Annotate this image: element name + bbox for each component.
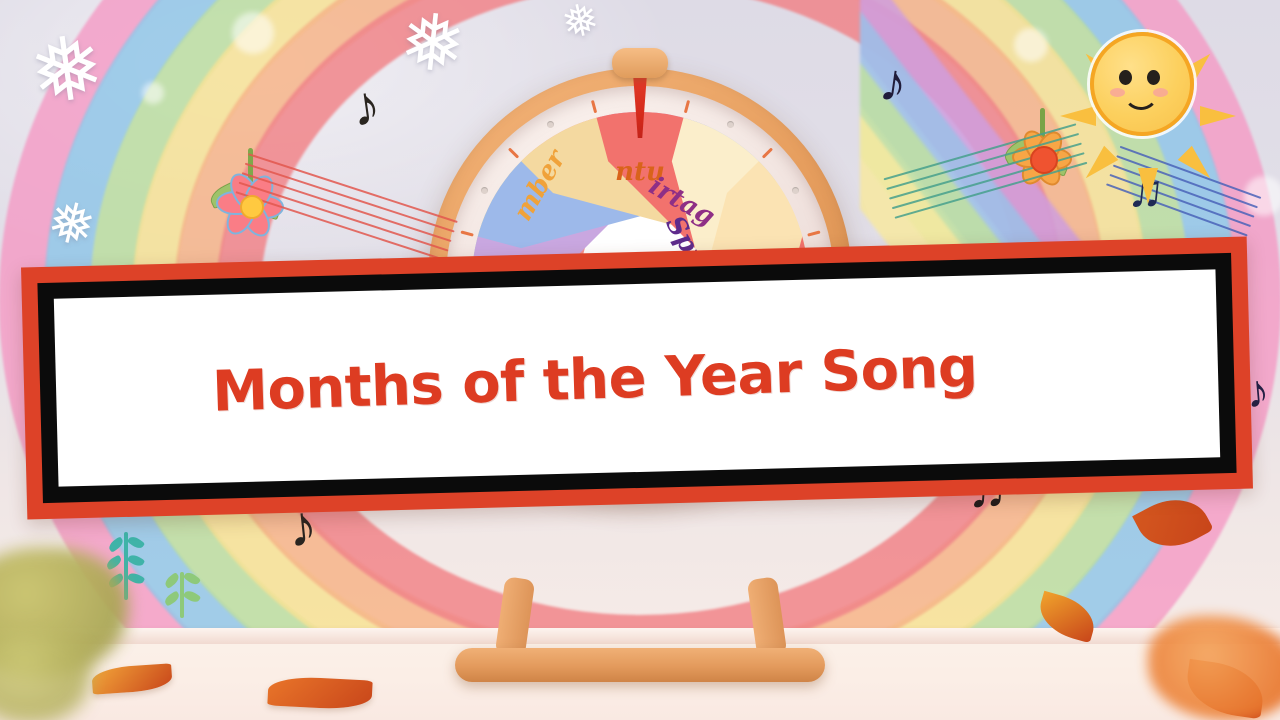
banner-white-panel: Months of the Year Song [54, 269, 1220, 486]
page-title: Months of the Year Song [211, 335, 978, 425]
wheel-stand-right [747, 576, 788, 657]
snowflake-top-right-icon: ❅ [558, 0, 603, 47]
bokeh-light [1014, 28, 1048, 62]
sun-eye-left [1119, 70, 1132, 85]
foreground-foliage-blur [0, 628, 90, 720]
wheel-stand-left [495, 576, 536, 657]
smiling-sun [1090, 32, 1186, 128]
snowflake-top-left-icon: ❅ [24, 21, 109, 118]
slide-canvas: ntuirtagSpring20155Momber ❅❅❅❅ [0, 0, 1280, 720]
title-banner: Months of the Year Song [21, 237, 1253, 520]
wheel-pointer-knob [612, 48, 668, 78]
snowflake-top-center-icon: ❅ [396, 1, 469, 85]
sun-eye-right [1147, 70, 1160, 85]
wheel-base [455, 648, 825, 682]
wheel-tick [807, 230, 820, 236]
leaf-ground-mid-icon [267, 675, 372, 710]
banner-black-frame: Months of the Year Song [37, 253, 1236, 503]
bokeh-light [232, 12, 274, 54]
bokeh-light [142, 82, 164, 104]
